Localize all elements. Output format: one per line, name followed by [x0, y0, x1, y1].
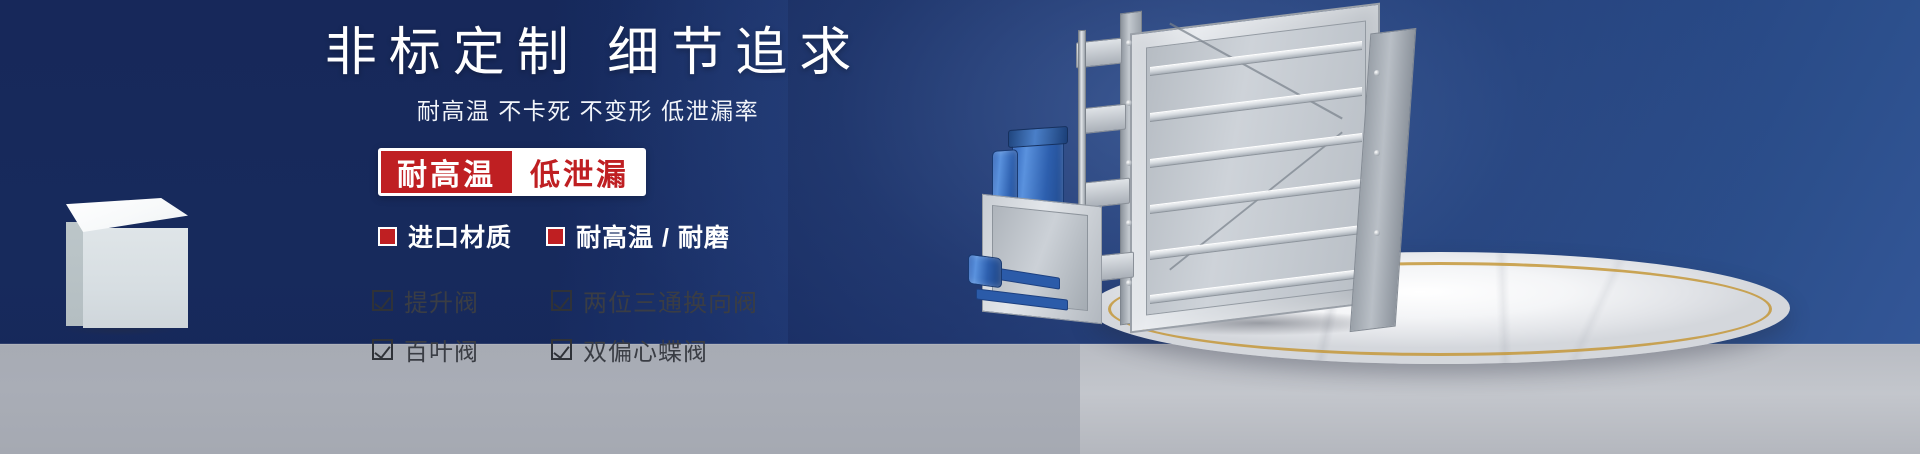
- damper-bolt: [1374, 70, 1380, 76]
- damper-bolt: [1374, 230, 1380, 236]
- red-square-marker-icon: [546, 227, 565, 246]
- product-image-damper-valve: [930, 10, 1490, 350]
- checklist-item-label: 双偏心蝶阀: [583, 332, 708, 367]
- product-checklist: 提升阀 两位三通换向阀 百叶阀 双偏心蝶阀: [372, 283, 772, 367]
- highlight-badge: 耐高温 低泄漏: [378, 148, 646, 196]
- actuator-clamp: [1084, 178, 1130, 209]
- damper-bolt: [1374, 150, 1380, 156]
- checked-box-icon: [551, 290, 572, 311]
- damper-bolt: [1126, 40, 1132, 46]
- checklist-item: 双偏心蝶阀: [551, 332, 772, 367]
- damper-bolt: [1126, 280, 1132, 286]
- checklist-item-label: 两位三通换向阀: [583, 283, 758, 318]
- checked-box-icon: [372, 290, 393, 311]
- cube-front-face: [83, 228, 188, 328]
- banner-subheadline: 耐高温 不卡死 不变形 低泄漏率: [278, 95, 898, 127]
- badge-right-label: 低泄漏: [516, 151, 643, 193]
- cube-top-face: [66, 198, 188, 232]
- damper-bolt: [1126, 160, 1132, 166]
- damper-bolt: [1126, 220, 1132, 226]
- checked-box-icon: [551, 339, 572, 360]
- feature-item: 耐高温 / 耐磨: [546, 218, 730, 254]
- checklist-item-label: 百叶阀: [404, 332, 479, 367]
- banner-headline: 非标定制 细节追求: [278, 18, 898, 88]
- feature-item-label: 进口材质: [408, 218, 512, 254]
- feature-item-label: 耐高温 / 耐磨: [576, 218, 730, 254]
- feature-item: 进口材质: [378, 218, 512, 254]
- white-cube-prop: [66, 198, 188, 328]
- promo-banner: 非标定制 细节追求 耐高温 不卡死 不变形 低泄漏率 耐高温 低泄漏 进口材质 …: [0, 0, 1920, 454]
- feature-list: 进口材质 耐高温 / 耐磨: [378, 218, 798, 254]
- valve-manifold-block: [968, 254, 1002, 289]
- checked-box-icon: [372, 339, 393, 360]
- red-square-marker-icon: [378, 227, 397, 246]
- checklist-item: 百叶阀: [372, 332, 537, 367]
- checklist-item: 两位三通换向阀: [551, 283, 772, 318]
- checklist-item-label: 提升阀: [404, 283, 479, 318]
- badge-left-label: 耐高温: [381, 151, 512, 193]
- checklist-item: 提升阀: [372, 283, 537, 318]
- cube-side-face: [66, 222, 84, 326]
- damper-bolt: [1126, 100, 1132, 106]
- actuator-clamp: [1080, 104, 1126, 135]
